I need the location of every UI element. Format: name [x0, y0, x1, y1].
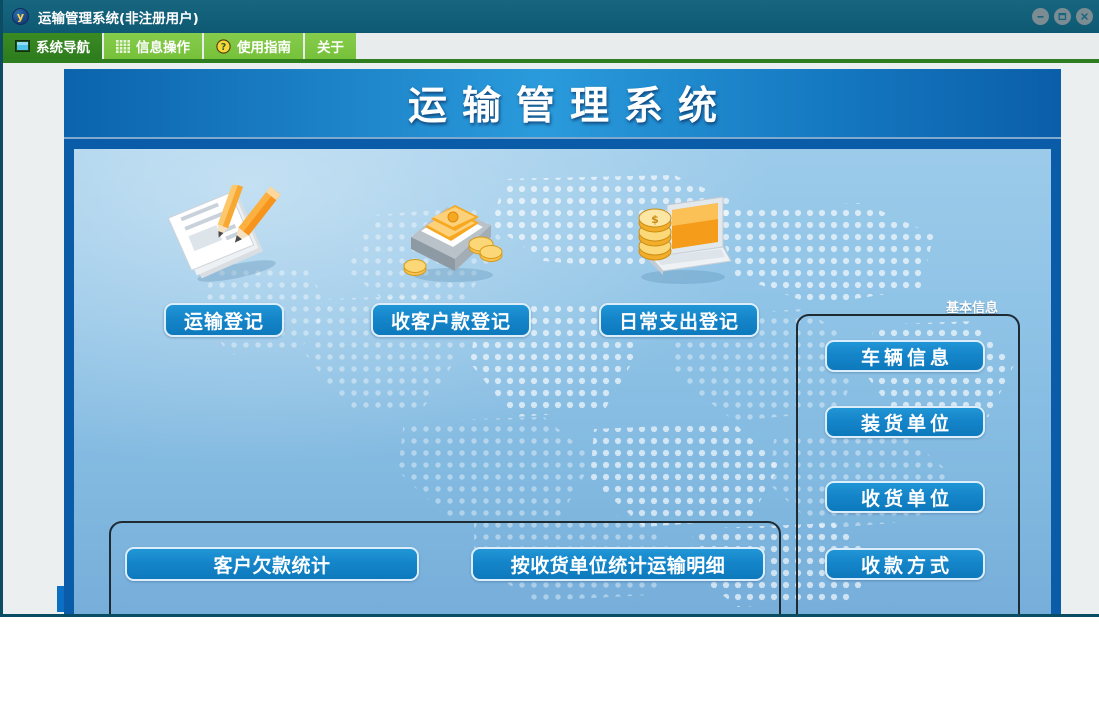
window-controls	[1032, 8, 1093, 25]
help-circle-icon: ?	[216, 39, 231, 54]
basic-info-group-box: 车辆信息 装货单位 收货单位 收款方式 本单位信息	[796, 314, 1020, 614]
title-bar[interactable]: y 运输管理系统(非注册用户)	[3, 0, 1099, 33]
report-by-consignee-button[interactable]: 按收货单位统计运输明细	[471, 547, 765, 581]
navigation-board: 运输登记	[74, 149, 1051, 614]
monitor-icon	[15, 40, 30, 53]
laptop-coins-icon: $	[619, 185, 739, 295]
report-customer-arrears-button[interactable]: 客户欠款统计	[125, 547, 419, 581]
primary-action-customer-payment-register: 收客户款登记	[346, 181, 556, 371]
menu-item-system-nav[interactable]: 系统导航	[3, 33, 104, 59]
primary-action-daily-expense-register: $ 日常支出登记	[574, 181, 784, 371]
customer-payment-register-button[interactable]: 收客户款登记	[371, 303, 531, 337]
minimize-button[interactable]	[1032, 8, 1049, 25]
menu-item-label: 关于	[317, 36, 344, 56]
banner: 运输管理系统	[64, 69, 1061, 139]
maximize-button[interactable]	[1054, 8, 1071, 25]
svg-text:$: $	[651, 213, 659, 226]
panel-edge-marker	[57, 586, 64, 612]
menu-item-label: 使用指南	[237, 36, 291, 56]
form-client-area: 运输管理系统	[3, 63, 1099, 614]
basic-vehicle-info-button[interactable]: 车辆信息	[825, 340, 985, 372]
application-window: y 运输管理系统(非注册用户)	[0, 0, 1099, 617]
transport-register-button[interactable]: 运输登记	[164, 303, 284, 337]
menu-item-label: 信息操作	[136, 36, 190, 56]
daily-expense-register-button[interactable]: 日常支出登记	[599, 303, 759, 337]
content-panel: 运输管理系统	[64, 69, 1061, 614]
basic-loading-unit-button[interactable]: 装货单位	[825, 406, 985, 438]
window-title: 运输管理系统(非注册用户)	[38, 7, 199, 27]
menu-item-info-operations[interactable]: 信息操作	[104, 33, 204, 59]
reports-group-box: 客户欠款统计 按收货单位统计运输明细 按司机统计运输明细 按车号统计运输明细及支…	[109, 521, 781, 614]
app-logo-icon: y	[12, 8, 29, 25]
menu-item-about[interactable]: 关于	[305, 33, 358, 59]
menu-bar: 系统导航 信息操作 ?	[3, 33, 1099, 63]
menu-item-label: 系统导航	[36, 36, 90, 56]
basic-payment-method-button[interactable]: 收款方式	[825, 548, 985, 580]
banner-title: 运输管理系统	[393, 75, 732, 131]
basic-consignee-unit-button[interactable]: 收货单位	[825, 481, 985, 513]
menu-item-user-guide[interactable]: ? 使用指南	[204, 33, 305, 59]
close-button[interactable]	[1076, 8, 1093, 25]
primary-action-transport-register: 运输登记	[119, 181, 329, 371]
svg-text:?: ?	[221, 42, 227, 53]
cash-stack-icon	[391, 185, 511, 295]
grid-icon	[116, 40, 130, 53]
document-pencil-icon	[164, 185, 284, 295]
